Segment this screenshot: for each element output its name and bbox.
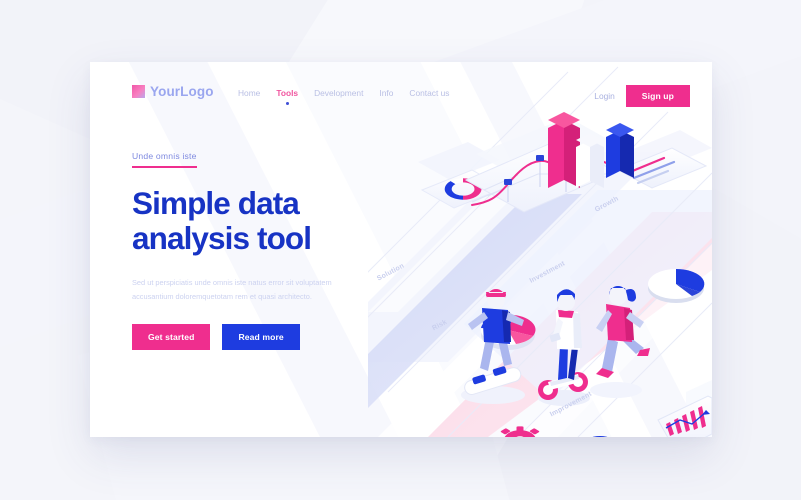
hero-eyebrow: Unde omnis iste bbox=[132, 151, 197, 168]
site-header: YourLogo Home Tools Development Info Con… bbox=[90, 62, 712, 124]
read-more-button[interactable]: Read more bbox=[222, 324, 299, 350]
logo-text: YourLogo bbox=[150, 84, 214, 99]
main-navigation: Home Tools Development Info Contact us bbox=[238, 88, 449, 105]
signup-button[interactable]: Sign up bbox=[626, 85, 690, 107]
nav-item-info[interactable]: Info bbox=[379, 88, 393, 105]
hero-description: Sed ut perspiciatis unde omnis iste natu… bbox=[132, 276, 337, 305]
hero-cta-row: Get started Read more bbox=[132, 324, 382, 350]
hero-section: Unde omnis iste Simple data analysis too… bbox=[132, 146, 382, 350]
nav-item-home[interactable]: Home bbox=[238, 88, 260, 105]
headline-line-2: analysis tool bbox=[132, 220, 311, 256]
nav-item-development[interactable]: Development bbox=[314, 88, 363, 105]
get-started-button[interactable]: Get started bbox=[132, 324, 210, 350]
hero-eyebrow-wrap: Unde omnis iste bbox=[132, 146, 382, 168]
nav-active-dot-icon bbox=[286, 102, 289, 105]
login-link[interactable]: Login bbox=[594, 91, 615, 101]
page-title: Simple data analysis tool bbox=[132, 186, 382, 257]
logo[interactable]: YourLogo bbox=[132, 84, 214, 99]
header-actions: Login Sign up bbox=[594, 85, 690, 107]
headline-line-1: Simple data bbox=[132, 185, 299, 221]
nav-item-contact-us[interactable]: Contact us bbox=[409, 88, 449, 105]
landing-page-card: $ Solution Growth Investment Risk Im bbox=[90, 62, 712, 437]
nav-item-tools[interactable]: Tools bbox=[276, 88, 298, 105]
logo-mark-icon bbox=[132, 85, 145, 98]
nav-item-tools-label: Tools bbox=[276, 88, 298, 98]
